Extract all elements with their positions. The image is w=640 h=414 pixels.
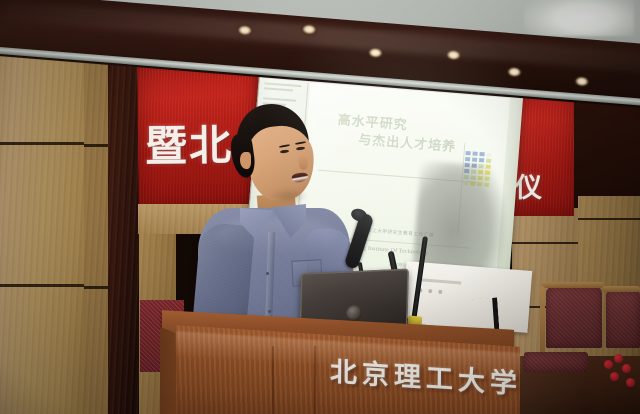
- ceiling-panel-light: [524, 0, 634, 36]
- indicator-grid: [463, 151, 492, 187]
- panel-seam: [512, 242, 578, 244]
- recessed-spotlight: [447, 50, 461, 60]
- recessed-spotlight: [508, 67, 522, 77]
- recessed-spotlight: [369, 48, 383, 58]
- outline-line: [264, 82, 301, 87]
- flower-arrangement: [600, 352, 640, 396]
- lecture-hall-photo: 暨北 会 通仪 Microsoft PowerPoint 演示文稿1.ppt 文…: [0, 0, 640, 414]
- upholstery-texture: [546, 286, 602, 348]
- auditorium-chair: [606, 290, 640, 348]
- indicator-cell: [470, 181, 475, 185]
- flower: [622, 364, 631, 373]
- indicator-cell: [472, 163, 477, 167]
- panel-seam: [578, 218, 640, 220]
- flower: [604, 360, 613, 369]
- indicator-cell: [471, 175, 476, 179]
- podium: 北京理工大学: [162, 320, 522, 414]
- panel-seam: [84, 144, 108, 147]
- indicator-cell: [479, 158, 484, 162]
- flower: [614, 354, 623, 363]
- flower: [610, 372, 619, 381]
- device-button[interactable]: [438, 290, 442, 294]
- auditorium-chair: [546, 286, 602, 348]
- flower: [626, 378, 635, 387]
- indicator-cell: [486, 153, 491, 157]
- outline-line: [264, 87, 293, 91]
- wood-grain-texture: [0, 6, 84, 414]
- indicator-cell: [465, 163, 470, 167]
- indicator-cell: [485, 177, 490, 181]
- wall-panel-left: [0, 6, 84, 414]
- indicator-cell: [479, 164, 484, 168]
- panel-seam: [84, 286, 108, 289]
- upholstery-texture: [606, 290, 640, 348]
- indicator-cell: [464, 175, 469, 179]
- indicator-cell: [486, 159, 491, 163]
- device-slot: [417, 278, 461, 284]
- indicator-cell: [478, 176, 483, 180]
- wall-panel-left-edge: [84, 12, 108, 414]
- indicator-cell: [485, 165, 490, 169]
- indicator-cell: [484, 182, 489, 186]
- indicator-cell: [472, 157, 477, 161]
- device-button[interactable]: [428, 289, 432, 293]
- chair-frame-leg: [540, 286, 545, 360]
- wood-grain-texture: [103, 10, 141, 414]
- auditorium-chair-seat: [524, 352, 588, 372]
- indicator-cell: [471, 169, 476, 173]
- chair-frame-top: [602, 286, 640, 292]
- panel-seam: [0, 142, 84, 145]
- indicator-cell: [465, 151, 470, 155]
- indicator-cell: [479, 152, 484, 156]
- indicator-cell: [477, 182, 482, 186]
- laptop-logo: [346, 305, 362, 322]
- recessed-spotlight: [575, 76, 589, 86]
- indicator-cell: [472, 152, 477, 156]
- outline-line: [263, 97, 296, 102]
- upholstery-texture: [524, 352, 588, 372]
- chair-frame-top: [542, 282, 604, 288]
- wood-grain-texture: [84, 12, 108, 414]
- dark-wood-pilaster-left: [103, 10, 141, 414]
- indicator-cell: [463, 181, 468, 185]
- indicator-cell: [485, 171, 490, 175]
- indicator-cell: [478, 170, 483, 174]
- indicator-cell: [464, 169, 469, 173]
- indicator-cell: [465, 157, 470, 161]
- panel-seam: [0, 284, 84, 287]
